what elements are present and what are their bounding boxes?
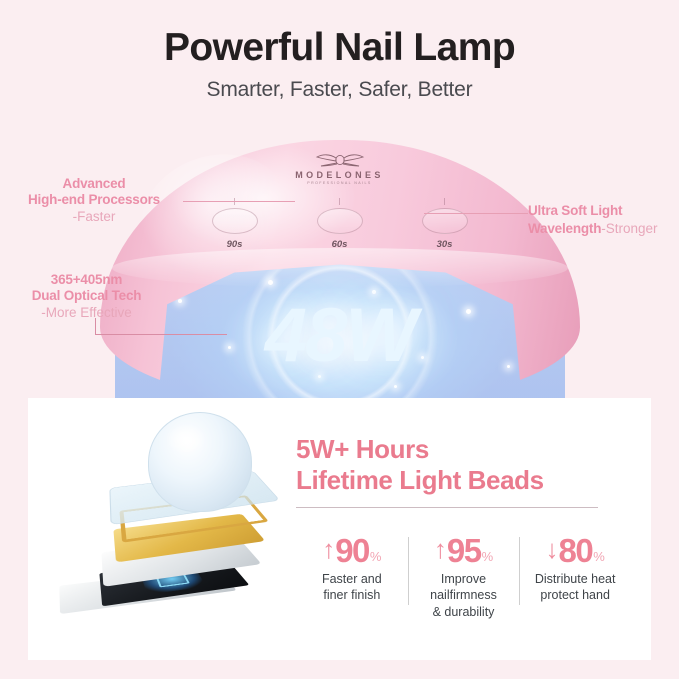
wings-emblem [313, 152, 367, 168]
timer-button-30s[interactable]: 30s [416, 198, 474, 250]
callout-line-2: Wavelength [528, 221, 601, 236]
callout-line-2-group: Wavelength-Stronger [528, 219, 678, 239]
stat-value: 90 [335, 534, 369, 567]
dome-rim [112, 248, 568, 288]
leader-line-processors [183, 201, 295, 202]
stat-item: ↑ 95 % Improve nailfirmness & durability [408, 534, 520, 620]
lamp-illustration: 48W MODELONES PROFESSIONAL NAILS 90s [0, 120, 679, 405]
arrow-down-icon: ↓ [546, 534, 559, 564]
stat-value-group: ↑ 95 % [412, 534, 516, 567]
timer-label: 60s [311, 239, 369, 250]
card-heading: 5W+ Hours Lifetime Light Beads [296, 434, 626, 495]
header: Powerful Nail Lamp Smarter, Faster, Safe… [0, 0, 679, 102]
card-heading-block: 5W+ Hours Lifetime Light Beads [296, 434, 626, 508]
callout-line-1: 365+405nm [4, 272, 169, 288]
stat-caption: Distribute heat protect hand [523, 571, 627, 604]
card-heading-line-1: 5W+ Hours [296, 434, 626, 465]
timer-label: 90s [206, 239, 264, 250]
stat-item: ↓ 80 % Distribute heat protect hand [519, 534, 631, 620]
stat-caption-line-1: Faster and [300, 571, 404, 587]
callout-line-2: High-end Processors [4, 192, 184, 208]
stat-unit: % [370, 549, 382, 564]
leader-line-optical-horizontal [95, 334, 227, 335]
callout-line-1: Advanced [4, 176, 184, 192]
timer-button-90s[interactable]: 90s [206, 198, 264, 250]
stat-caption-line-2: finer finish [300, 587, 404, 603]
led-dome-highlight [166, 424, 206, 454]
stat-caption-line-3: & durability [412, 604, 516, 620]
statistics-row: ↑ 90 % Faster and finer finish ↑ 95 % Im… [296, 534, 631, 620]
timer-button-surface[interactable] [422, 208, 468, 234]
features-card: 5W+ Hours Lifetime Light Beads ↑ 90 % Fa… [28, 398, 651, 660]
stat-caption: Faster and finer finish [300, 571, 404, 604]
callout-wavelength: Ultra Soft Light Wavelength-Stronger [528, 203, 678, 239]
leader-line-optical-vertical [95, 318, 96, 334]
heading-divider [296, 507, 598, 508]
timer-indicator-icon [444, 198, 445, 205]
callout-line-3: -Stronger [601, 221, 657, 236]
stat-caption: Improve nailfirmness & durability [412, 571, 516, 620]
callout-line-2: Dual Optical Tech [4, 288, 169, 304]
wattage-label: 48W [115, 292, 565, 379]
timer-button-surface[interactable] [212, 208, 258, 234]
leader-line-wavelength [424, 213, 528, 214]
arrow-up-icon: ↑ [434, 534, 447, 564]
timer-label: 30s [416, 239, 474, 250]
timer-indicator-icon [339, 198, 340, 205]
callout-line-1: Ultra Soft Light [528, 203, 678, 219]
led-dome-lens [148, 412, 252, 512]
card-heading-line-2: Lifetime Light Beads [296, 465, 626, 496]
led-bead-exploded-diagram [60, 410, 292, 615]
timer-button-surface[interactable] [317, 208, 363, 234]
callout-line-3: -More Effective [4, 305, 169, 321]
stat-caption-line-2: nailfirmness [412, 587, 516, 603]
page-subtitle: Smarter, Faster, Safer, Better [0, 78, 679, 102]
callout-optical-tech: 365+405nm Dual Optical Tech -More Effect… [4, 272, 169, 321]
stat-item: ↑ 90 % Faster and finer finish [296, 534, 408, 620]
stat-caption-line-1: Improve [412, 571, 516, 587]
stat-unit: % [482, 549, 494, 564]
stat-caption-line-2: protect hand [523, 587, 627, 603]
stat-value: 95 [447, 534, 481, 567]
callout-processors: Advanced High-end Processors -Faster [4, 176, 184, 225]
stat-value-group: ↓ 80 % [523, 534, 627, 567]
callout-line-3: -Faster [4, 209, 184, 225]
stat-value-group: ↑ 90 % [300, 534, 404, 567]
stat-caption-line-1: Distribute heat [523, 571, 627, 587]
timer-button-60s[interactable]: 60s [311, 198, 369, 250]
stat-value: 80 [559, 534, 593, 567]
page-title: Powerful Nail Lamp [0, 28, 679, 69]
stat-unit: % [593, 549, 605, 564]
arrow-up-icon: ↑ [322, 534, 335, 564]
